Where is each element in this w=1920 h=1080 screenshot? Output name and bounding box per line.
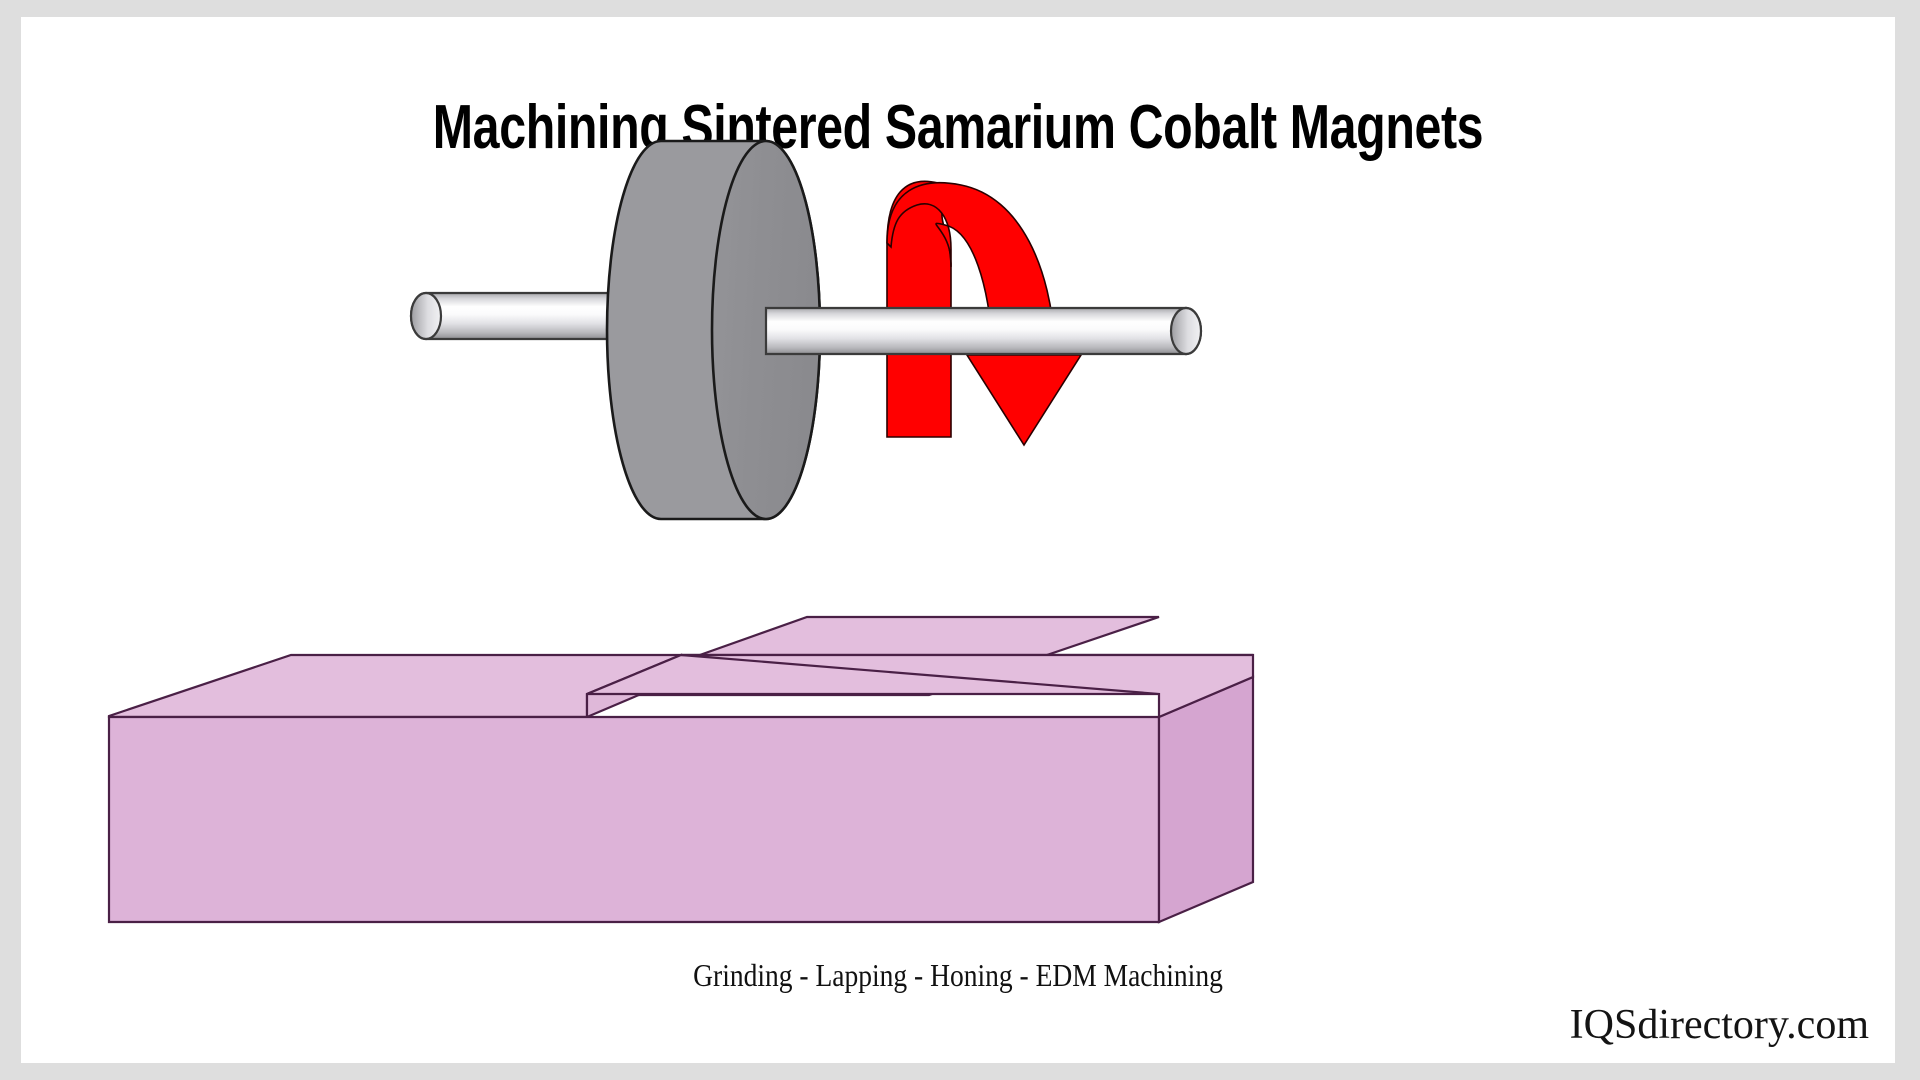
watermark-text: IQSdirectory.com [1570, 1001, 1869, 1049]
magnet-workpiece [109, 617, 1253, 922]
surface-grinding-diagram [21, 17, 1895, 1063]
spindle-shaft-right [766, 308, 1201, 354]
grinding-wheel-assembly [411, 141, 1201, 519]
diagram-caption: Grinding - Lapping - Honing - EDM Machin… [152, 957, 1764, 994]
image-root: Machining Sintered Samarium Cobalt Magne… [0, 0, 1920, 1080]
illustration-canvas: Machining Sintered Samarium Cobalt Magne… [21, 17, 1895, 1063]
